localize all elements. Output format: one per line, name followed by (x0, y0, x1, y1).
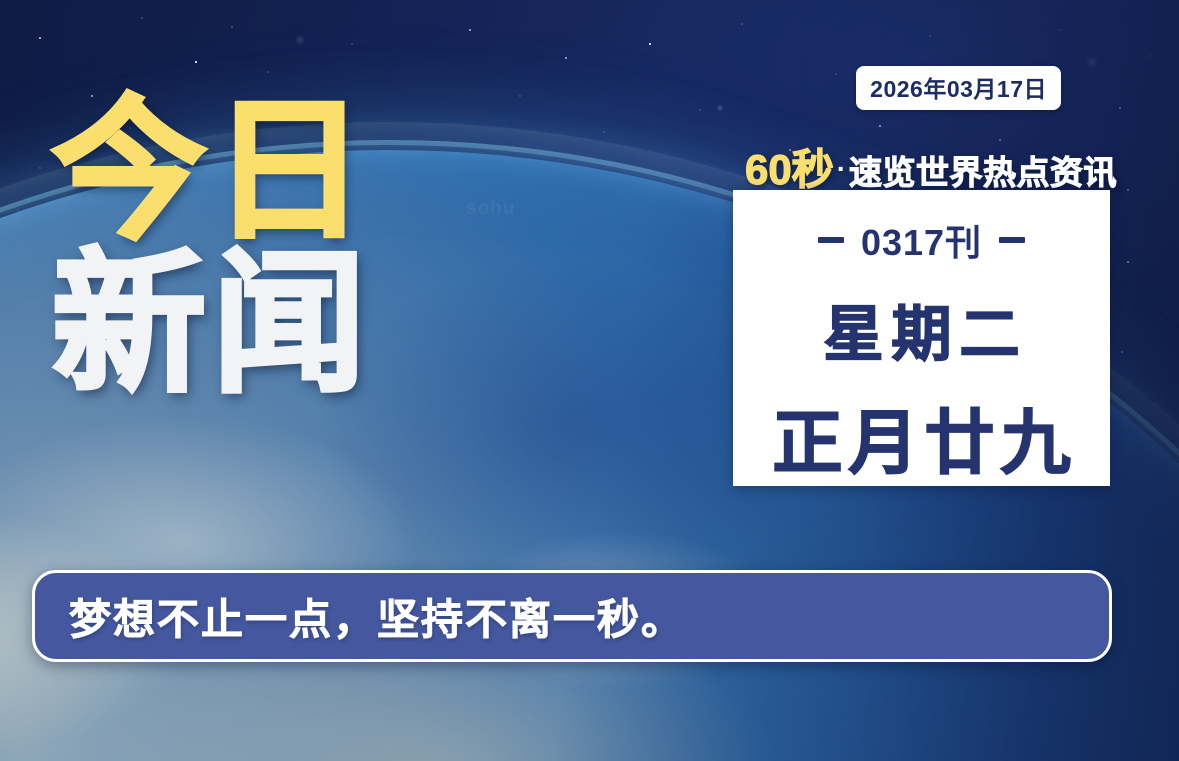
issue-dash-right-icon (999, 237, 1025, 243)
title-line-news: 新闻 (52, 245, 472, 404)
tagline-separator: · (834, 153, 849, 184)
quote-text: 梦想不止一点，坚持不离一秒。 (35, 586, 685, 647)
tagline: 60秒·速览世界热点资讯 (745, 136, 1117, 197)
title-line-today: 今日 (52, 92, 472, 251)
tagline-text: 速览世界热点资讯 (849, 154, 1117, 191)
weekday-label: 星期二 (816, 286, 1028, 373)
issue-number: 0317刊 (861, 214, 982, 266)
poster-title: 今日 新闻 (52, 92, 472, 403)
issue-dash-left-icon (818, 237, 844, 243)
lunar-date-label: 正月廿九 (767, 387, 1077, 488)
watermark-text: sohu (466, 198, 515, 220)
date-badge: 2026年03月17日 (856, 66, 1061, 110)
issue-row: 0317刊 (818, 214, 1025, 266)
news-poster: sohu 今日 新闻 2026年03月17日 60秒·速览世界热点资讯 0317… (0, 0, 1179, 761)
tagline-seconds: 60秒 (745, 146, 834, 193)
quote-bar: 梦想不止一点，坚持不离一秒。 (32, 570, 1112, 662)
date-info-card: 0317刊 星期二 正月廿九 (733, 190, 1110, 486)
